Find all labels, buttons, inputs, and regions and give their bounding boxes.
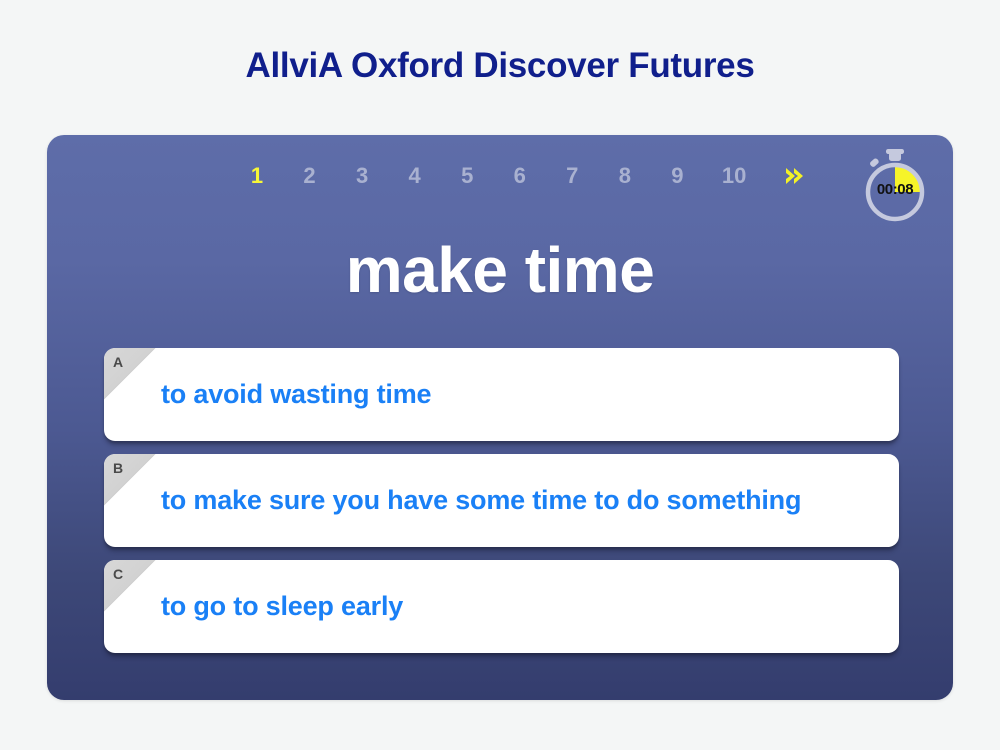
option-letter-b: B — [113, 461, 123, 475]
quiz-page: AllviA Oxford Discover Futures 1 2 3 4 5… — [0, 0, 1000, 750]
answer-options: A to avoid wasting time B to make sure y… — [104, 348, 899, 653]
pagination-page-7[interactable]: 7 — [564, 165, 580, 187]
option-letter-c: C — [113, 567, 123, 581]
option-text-a: to avoid wasting time — [161, 348, 879, 441]
question-prompt: make time — [47, 235, 953, 305]
quiz-panel: 1 2 3 4 5 6 7 8 9 10 — [47, 135, 953, 700]
pagination-page-9[interactable]: 9 — [669, 165, 685, 187]
corner-flag-icon — [104, 454, 156, 506]
corner-flag-icon — [104, 560, 156, 612]
timer: 00:08 — [859, 148, 931, 222]
pagination-page-5[interactable]: 5 — [459, 165, 475, 187]
corner-flag-icon — [104, 348, 156, 400]
double-chevron-right-icon[interactable] — [783, 165, 805, 187]
quiz-topbar: 1 2 3 4 5 6 7 8 9 10 — [47, 135, 953, 235]
pagination-page-2[interactable]: 2 — [302, 165, 318, 187]
answer-option-a[interactable]: A to avoid wasting time — [104, 348, 899, 441]
answer-option-b[interactable]: B to make sure you have some time to do … — [104, 454, 899, 547]
stopwatch-icon — [859, 148, 931, 222]
page-title: AllviA Oxford Discover Futures — [0, 46, 1000, 86]
pagination-page-8[interactable]: 8 — [617, 165, 633, 187]
option-text-c: to go to sleep early — [161, 560, 879, 653]
pagination: 1 2 3 4 5 6 7 8 9 10 — [242, 156, 812, 196]
pagination-page-4[interactable]: 4 — [407, 165, 423, 187]
pagination-page-1[interactable]: 1 — [249, 165, 265, 187]
answer-option-c[interactable]: C to go to sleep early — [104, 560, 899, 653]
pagination-page-6[interactable]: 6 — [512, 165, 528, 187]
pagination-page-3[interactable]: 3 — [354, 165, 370, 187]
option-text-b: to make sure you have some time to do so… — [161, 454, 879, 547]
pagination-page-10[interactable]: 10 — [722, 165, 746, 187]
option-letter-a: A — [113, 355, 123, 369]
